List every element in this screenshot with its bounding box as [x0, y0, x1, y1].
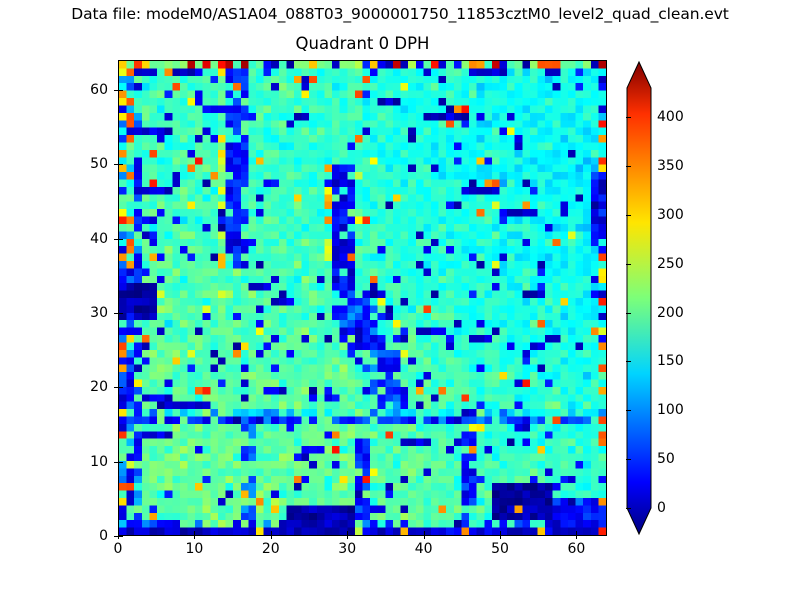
y-tick-label: 40 — [108, 231, 126, 247]
x-tick-label: 30 — [338, 541, 356, 557]
y-tick-label: 10 — [108, 454, 126, 470]
colorbar-tick-label: 400 — [657, 109, 684, 125]
x-tick-inner — [194, 531, 195, 535]
detector-plane-histogram-image — [119, 61, 606, 535]
colorbar-tick-label: 50 — [657, 451, 675, 467]
x-tick-inner — [118, 531, 119, 535]
x-tick-label: 10 — [185, 541, 203, 557]
x-tick — [500, 535, 501, 539]
colorbar-tick — [626, 459, 631, 460]
x-tick-inner — [347, 531, 348, 535]
colorbar — [626, 60, 652, 536]
colorbar-tick — [626, 410, 631, 411]
colorbar-tick — [626, 166, 631, 167]
x-tick-label: 40 — [415, 541, 433, 557]
x-tick — [424, 535, 425, 539]
colorbar-gradient — [626, 60, 652, 536]
x-tick-label: 60 — [568, 541, 586, 557]
colorbar-tick — [626, 508, 631, 509]
y-tick-label: 30 — [108, 305, 126, 321]
x-tick — [347, 535, 348, 539]
colorbar-tick-label: 350 — [657, 158, 684, 174]
matplotlib-figure: Data file: modeM0/AS1A04_088T03_90000017… — [0, 0, 800, 600]
colorbar-tick-label: 300 — [657, 207, 684, 223]
axes-title: Quadrant 0 DPH — [118, 34, 607, 53]
y-tick-label: 20 — [108, 379, 126, 395]
y-tick-label: 0 — [108, 528, 117, 544]
x-tick — [576, 535, 577, 539]
x-tick — [271, 535, 272, 539]
colorbar-tick — [626, 313, 631, 314]
colorbar-tick-label: 250 — [657, 256, 684, 272]
figure-suptitle: Data file: modeM0/AS1A04_088T03_90000017… — [0, 5, 800, 23]
colorbar-tick — [626, 215, 631, 216]
colorbar-tick — [626, 264, 631, 265]
colorbar-tick-label: 150 — [657, 353, 684, 369]
colorbar-tick — [626, 361, 631, 362]
colorbar-tick-label: 0 — [657, 500, 666, 516]
colorbar-tick — [626, 117, 631, 118]
x-tick-inner — [500, 531, 501, 535]
heatmap-axes — [118, 60, 607, 536]
y-tick-label: 50 — [108, 156, 126, 172]
y-tick-inner — [119, 536, 123, 537]
colorbar-tick-label: 200 — [657, 305, 684, 321]
y-tick-label: 60 — [108, 82, 126, 98]
x-tick-inner — [576, 531, 577, 535]
x-tick-inner — [271, 531, 272, 535]
colorbar-tick-label: 100 — [657, 402, 684, 418]
x-tick-inner — [424, 531, 425, 535]
x-tick-label: 20 — [262, 541, 280, 557]
x-tick — [194, 535, 195, 539]
x-tick-label: 50 — [491, 541, 509, 557]
